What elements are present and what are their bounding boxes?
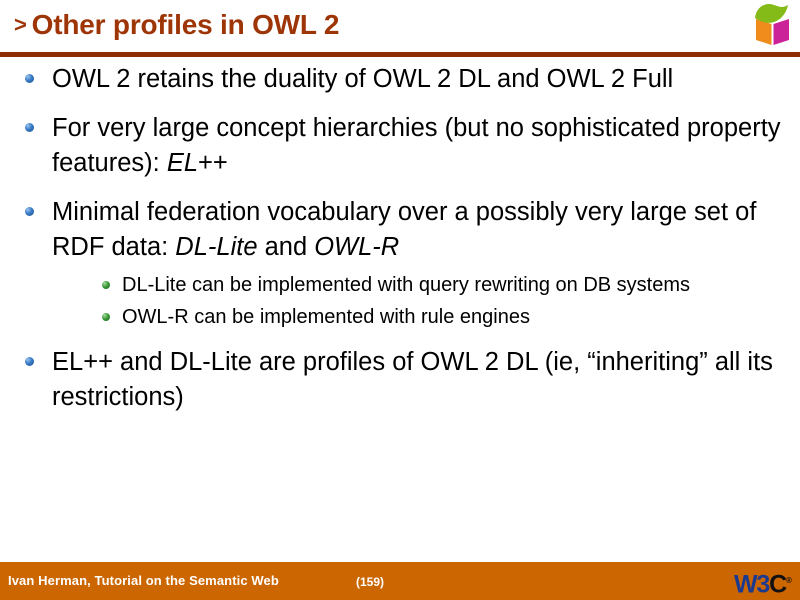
- w3c-logo: W3C®: [734, 567, 792, 595]
- bullet-dot-icon: [25, 207, 34, 216]
- sub-bullet-item: OWL-R can be implemented with rule engin…: [96, 303, 800, 331]
- w3c-logo-registered-icon: ®: [786, 576, 792, 585]
- plain-text: Minimal federation vocabulary over a pos…: [52, 198, 756, 261]
- bullet-dot-icon: [25, 74, 34, 83]
- slide-root: >Other profiles in OWL 2 OWL 2 retains t…: [0, 0, 800, 600]
- slide-header: >Other profiles in OWL 2: [0, 0, 800, 57]
- emphasis-text: OWL-R: [314, 233, 399, 261]
- bullet-item: Minimal federation vocabulary over a pos…: [18, 195, 800, 331]
- emphasis-text: EL: [167, 149, 198, 177]
- title-text: Other profiles in OWL 2: [32, 9, 340, 40]
- title-caret-icon: >: [14, 12, 27, 37]
- bullet-item: EL++ and DL-Lite are profiles of OWL 2 D…: [18, 345, 800, 415]
- bullet-dot-icon: [25, 123, 34, 132]
- plain-text: and: [258, 233, 315, 261]
- bullet-item: OWL 2 retains the duality of OWL 2 DL an…: [18, 62, 800, 97]
- sub-bullet-item: DL-Lite can be implemented with query re…: [96, 271, 800, 299]
- w3c-logo-w3: W3: [734, 570, 769, 598]
- sub-bullet-list: DL-Lite can be implemented with query re…: [52, 271, 800, 331]
- w3c-logo-c: C: [769, 570, 786, 598]
- plain-text: EL++ and DL-Lite are profiles of OWL 2 D…: [52, 348, 773, 411]
- plain-text: For very large concept hierarchies (but …: [52, 114, 781, 177]
- sub-bullet-wrapper: DL-Lite can be implemented with query re…: [52, 271, 800, 331]
- bullet-item: For very large concept hierarchies (but …: [18, 111, 800, 181]
- footer-page-number: (159): [0, 575, 740, 589]
- slide-body: OWL 2 retains the duality of OWL 2 DL an…: [0, 62, 800, 552]
- plain-text: OWL 2 retains the duality of OWL 2 DL an…: [52, 65, 673, 93]
- bullet-text: EL++ and DL-Lite are profiles of OWL 2 D…: [52, 348, 773, 411]
- sub-bullet-dot-icon: [102, 281, 110, 289]
- slide-footer: Ivan Herman, Tutorial on the Semantic We…: [0, 562, 800, 600]
- owl-cube-logo: [750, 2, 794, 46]
- sub-bullet-dot-icon: [102, 313, 110, 321]
- bullet-text: For very large concept hierarchies (but …: [52, 114, 781, 177]
- sub-bullet-text: DL-Lite can be implemented with query re…: [122, 274, 690, 296]
- bullet-text: Minimal federation vocabulary over a pos…: [52, 198, 756, 261]
- bullet-dot-icon: [25, 357, 34, 366]
- page-title: >Other profiles in OWL 2: [14, 8, 339, 44]
- owl-cube-icon: [750, 2, 794, 46]
- title-divider: [0, 52, 800, 57]
- bullet-text: OWL 2 retains the duality of OWL 2 DL an…: [52, 65, 673, 93]
- sub-bullet-text: OWL-R can be implemented with rule engin…: [122, 306, 530, 328]
- emphasis-text: DL-Lite: [175, 233, 257, 261]
- plain-text: ++: [198, 149, 228, 177]
- bullet-list: OWL 2 retains the duality of OWL 2 DL an…: [0, 62, 800, 415]
